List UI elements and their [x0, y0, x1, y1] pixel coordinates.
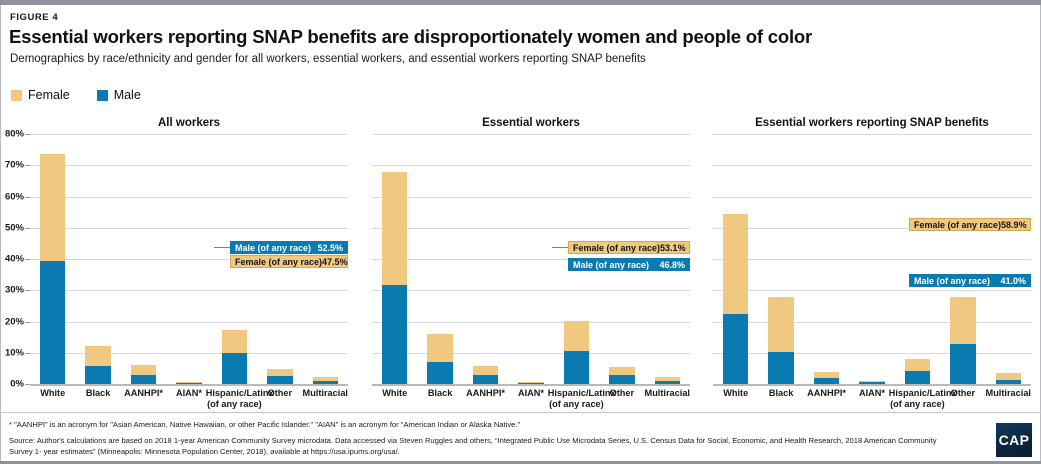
bar-segment-female[interactable]	[609, 367, 634, 375]
bar-segment-female[interactable]	[85, 346, 110, 366]
y-axis-tick-label: 80%	[5, 129, 24, 140]
x-axis-tick-label: Multiracial	[639, 388, 696, 399]
bar-segment-male[interactable]	[609, 375, 634, 384]
panel-title: Essential workers	[372, 117, 690, 129]
bar-segment-female[interactable]	[905, 359, 930, 371]
bar-group[interactable]	[473, 134, 498, 384]
bar-segment-female[interactable]	[996, 373, 1021, 380]
bar-segment-male[interactable]	[267, 376, 292, 384]
callout-value: 47.5%	[322, 257, 348, 267]
y-axis-tick-mark	[25, 165, 30, 166]
bar-segment-male[interactable]	[996, 380, 1021, 384]
y-axis-tick-label: 10%	[5, 347, 24, 358]
callout-label: Female (of any race)	[235, 257, 322, 267]
bar-group[interactable]	[427, 134, 452, 384]
y-axis-tick-mark	[25, 353, 30, 354]
data-callout-male: Male (of any race)41.0%	[909, 274, 1031, 287]
top-rule	[0, 0, 1041, 5]
bar-segment-female[interactable]	[313, 377, 338, 381]
callout-label: Female (of any race)	[573, 243, 660, 253]
callout-label: Male (of any race)	[235, 243, 311, 253]
figure-label: FIGURE 4	[10, 12, 58, 23]
y-axis-tick-mark	[25, 228, 30, 229]
bar-segment-female[interactable]	[222, 330, 247, 354]
bar-segment-male[interactable]	[723, 314, 748, 384]
bar-segment-female[interactable]	[723, 214, 748, 314]
bar-segment-female[interactable]	[473, 366, 498, 375]
bar-segment-male[interactable]	[131, 375, 156, 384]
bar-segment-male[interactable]	[814, 378, 839, 384]
y-axis-tick-mark	[25, 197, 30, 198]
data-callout-male: Male (of any race)52.5%	[230, 241, 348, 254]
bar-group[interactable]	[176, 134, 201, 384]
callout-label: Female (of any race)	[914, 220, 1001, 230]
x-axis-labels: WhiteBlackAANHPI*AIAN*Hispanic/Latinx(of…	[713, 388, 1031, 414]
chart-panel-1: All workers0%10%20%30%40%50%60%70%80%Whi…	[30, 112, 348, 412]
bar-group[interactable]	[382, 134, 407, 384]
bar-segment-female[interactable]	[267, 369, 292, 376]
bar-segment-male[interactable]	[473, 375, 498, 384]
footer-text: * "AANHPI" is an acronym for "Asian Amer…	[9, 419, 949, 458]
callout-leader-line	[214, 247, 230, 248]
callout-value: 46.8%	[659, 260, 685, 270]
bar-segment-male[interactable]	[950, 344, 975, 384]
bar-segment-female[interactable]	[859, 381, 884, 382]
cap-logo: CAP	[996, 423, 1032, 457]
legend-item-male: Male	[97, 88, 141, 102]
bar-segment-male[interactable]	[655, 381, 680, 384]
bar-segment-female[interactable]	[768, 297, 793, 353]
bar-segment-female[interactable]	[40, 154, 65, 261]
bar-group[interactable]	[85, 134, 110, 384]
bar-group[interactable]	[723, 134, 748, 384]
chart-legend: Female Male	[11, 88, 141, 102]
bar-segment-female[interactable]	[427, 334, 452, 362]
bar-segment-male[interactable]	[564, 351, 589, 384]
legend-swatch-female-icon	[11, 90, 22, 101]
bar-segment-female[interactable]	[950, 297, 975, 344]
callout-label: Male (of any race)	[573, 260, 649, 270]
bar-segment-female[interactable]	[176, 382, 201, 383]
x-axis-tick-label: Multiracial	[980, 388, 1037, 399]
y-axis-tick-mark	[25, 134, 30, 135]
legend-label-male: Male	[114, 88, 141, 102]
panel-title: All workers	[30, 117, 348, 129]
bar-segment-female[interactable]	[131, 365, 156, 375]
callout-label: Male (of any race)	[914, 276, 990, 286]
footnote-source: Source: Author's calculations are based …	[9, 435, 949, 458]
panel-title: Essential workers reporting SNAP benefit…	[713, 117, 1031, 129]
callout-value: 53.1%	[660, 243, 686, 253]
bar-group[interactable]	[996, 134, 1021, 384]
legend-swatch-male-icon	[97, 90, 108, 101]
bar-segment-male[interactable]	[40, 261, 65, 384]
bar-segment-female[interactable]	[814, 372, 839, 378]
x-axis-line	[30, 384, 348, 386]
bar-segment-male[interactable]	[518, 383, 543, 384]
x-axis-tick-label: Multiracial	[297, 388, 354, 399]
page-subtitle: Demographics by race/ethnicity and gende…	[10, 53, 646, 65]
bar-segment-male[interactable]	[427, 362, 452, 384]
chart-panel-3: Essential workers reporting SNAP benefit…	[713, 112, 1031, 412]
bar-group[interactable]	[814, 134, 839, 384]
callout-leader-line	[552, 247, 568, 248]
data-callout-female: Female (of any race)58.9%	[909, 218, 1031, 231]
callout-value: 52.5%	[317, 243, 343, 253]
callout-value: 58.9%	[1001, 220, 1027, 230]
y-axis-tick-label: 0%	[10, 379, 24, 390]
y-axis-tick-mark	[25, 259, 30, 260]
y-axis-tick-label: 20%	[5, 316, 24, 327]
bar-group[interactable]	[131, 134, 156, 384]
footnote-acronyms: * "AANHPI" is an acronym for "Asian Amer…	[9, 419, 949, 431]
legend-label-female: Female	[28, 88, 70, 102]
bar-group[interactable]	[768, 134, 793, 384]
x-axis-labels: WhiteBlackAANHPI*AIAN*Hispanic/Latinx(of…	[372, 388, 690, 414]
y-axis-tick-mark	[25, 384, 30, 385]
bar-group[interactable]	[950, 134, 975, 384]
bar-group[interactable]	[905, 134, 930, 384]
footer-rule	[0, 412, 1041, 413]
x-axis-labels: WhiteBlackAANHPI*AIAN*Hispanic/Latinx(of…	[30, 388, 348, 414]
data-callout-female: Female (of any race)47.5%	[230, 255, 348, 268]
legend-item-female: Female	[11, 88, 70, 102]
y-axis-tick-label: 40%	[5, 254, 24, 265]
bar-segment-female[interactable]	[655, 377, 680, 381]
bar-segment-female[interactable]	[382, 172, 407, 285]
bar-group[interactable]	[859, 134, 884, 384]
bar-segment-female[interactable]	[518, 382, 543, 383]
bar-segment-female[interactable]	[564, 321, 589, 351]
bar-group[interactable]	[518, 134, 543, 384]
bar-segment-male[interactable]	[859, 382, 884, 384]
callout-value: 41.0%	[1000, 276, 1026, 286]
y-axis-tick-label: 60%	[5, 191, 24, 202]
bar-group[interactable]	[40, 134, 65, 384]
bar-segment-male[interactable]	[768, 352, 793, 384]
chart-panel-2: Essential workersWhiteBlackAANHPI*AIAN*H…	[372, 112, 690, 412]
y-axis-tick-mark	[25, 290, 30, 291]
bar-segment-male[interactable]	[85, 366, 110, 384]
bar-segment-male[interactable]	[382, 285, 407, 384]
x-axis-line	[713, 384, 1031, 386]
y-axis-tick-label: 50%	[5, 222, 24, 233]
bar-segment-male[interactable]	[313, 381, 338, 384]
chart-panels: All workers0%10%20%30%40%50%60%70%80%Whi…	[0, 112, 1041, 412]
bar-segment-male[interactable]	[905, 371, 930, 384]
data-callout-male: Male (of any race)46.8%	[568, 258, 690, 271]
y-axis-tick-label: 30%	[5, 285, 24, 296]
x-axis-line	[372, 384, 690, 386]
bar-segment-male[interactable]	[176, 383, 201, 384]
page-title: Essential workers reporting SNAP benefit…	[9, 26, 812, 48]
y-axis-tick-mark	[25, 322, 30, 323]
data-callout-female: Female (of any race)53.1%	[568, 241, 690, 254]
plot-area	[713, 134, 1031, 384]
bar-segment-male[interactable]	[222, 353, 247, 384]
y-axis-tick-label: 70%	[5, 160, 24, 171]
